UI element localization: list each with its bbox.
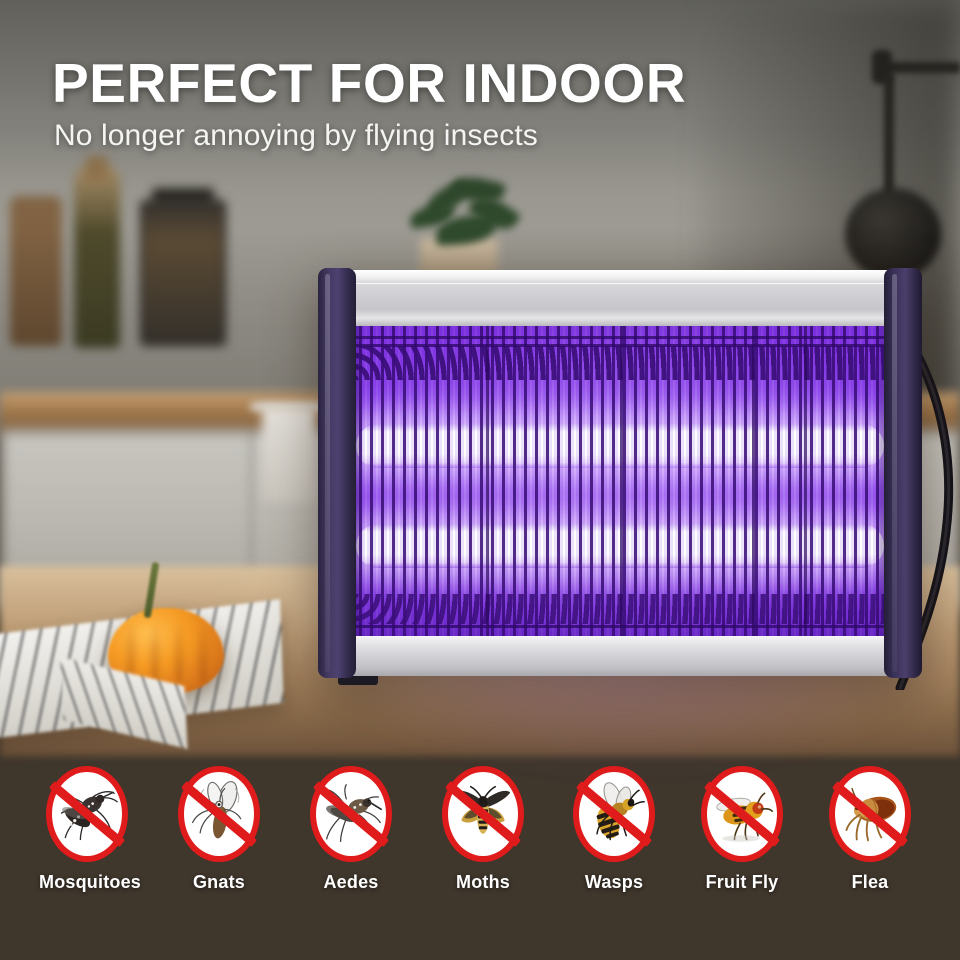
pest-label: Fruit Fly [694, 872, 790, 893]
hanging-towel [262, 406, 316, 502]
page-title: PERFECT FOR INDOOR [52, 56, 686, 111]
frame-highlight [892, 274, 897, 672]
bug-zapper-device [318, 268, 922, 678]
grid-divider-post [804, 320, 807, 642]
pest-label: Moths [435, 872, 531, 893]
gourd-rib [174, 618, 184, 684]
device-right-frame [884, 268, 922, 678]
product-banner: PERFECT FOR INDOOR No longer annoying by… [0, 0, 960, 960]
pest-label: Gnats [171, 872, 267, 893]
grid-divider-post [752, 320, 755, 642]
prohibition-badge [442, 766, 524, 862]
grid-divider-post [620, 320, 623, 642]
prohibition-badge [829, 766, 911, 862]
pest-item: Flea [822, 766, 918, 893]
grid-divider-post [486, 320, 489, 642]
frame-highlight [325, 274, 330, 672]
prohibition-badge [701, 766, 783, 862]
prohibition-badge [178, 766, 260, 862]
device-left-frame [318, 268, 356, 678]
gourd-rib [150, 618, 160, 684]
pest-item: Gnats [171, 766, 267, 893]
pest-label: Wasps [566, 872, 662, 893]
device-bottom-trim [344, 636, 896, 676]
pest-item: Mosquitoes [39, 766, 135, 893]
device-top-trim [344, 270, 896, 326]
prohibition-badge [46, 766, 128, 862]
pest-item: Wasps [566, 766, 662, 893]
prohibition-badge [310, 766, 392, 862]
gourd-rib [198, 618, 208, 684]
top-vignette [0, 0, 960, 230]
page-subtitle: No longer annoying by flying insects [54, 118, 538, 154]
pest-label: Flea [822, 872, 918, 893]
pest-item: Moths [435, 766, 531, 893]
pest-icon-strip: Mosquitoes [0, 766, 960, 916]
pest-item: Fruit Fly [694, 766, 790, 893]
pest-label: Mosquitoes [39, 872, 135, 893]
zapper-grid-screen [348, 320, 892, 642]
pest-item: Aedes [303, 766, 399, 893]
prohibition-badge [573, 766, 655, 862]
pest-label: Aedes [303, 872, 399, 893]
